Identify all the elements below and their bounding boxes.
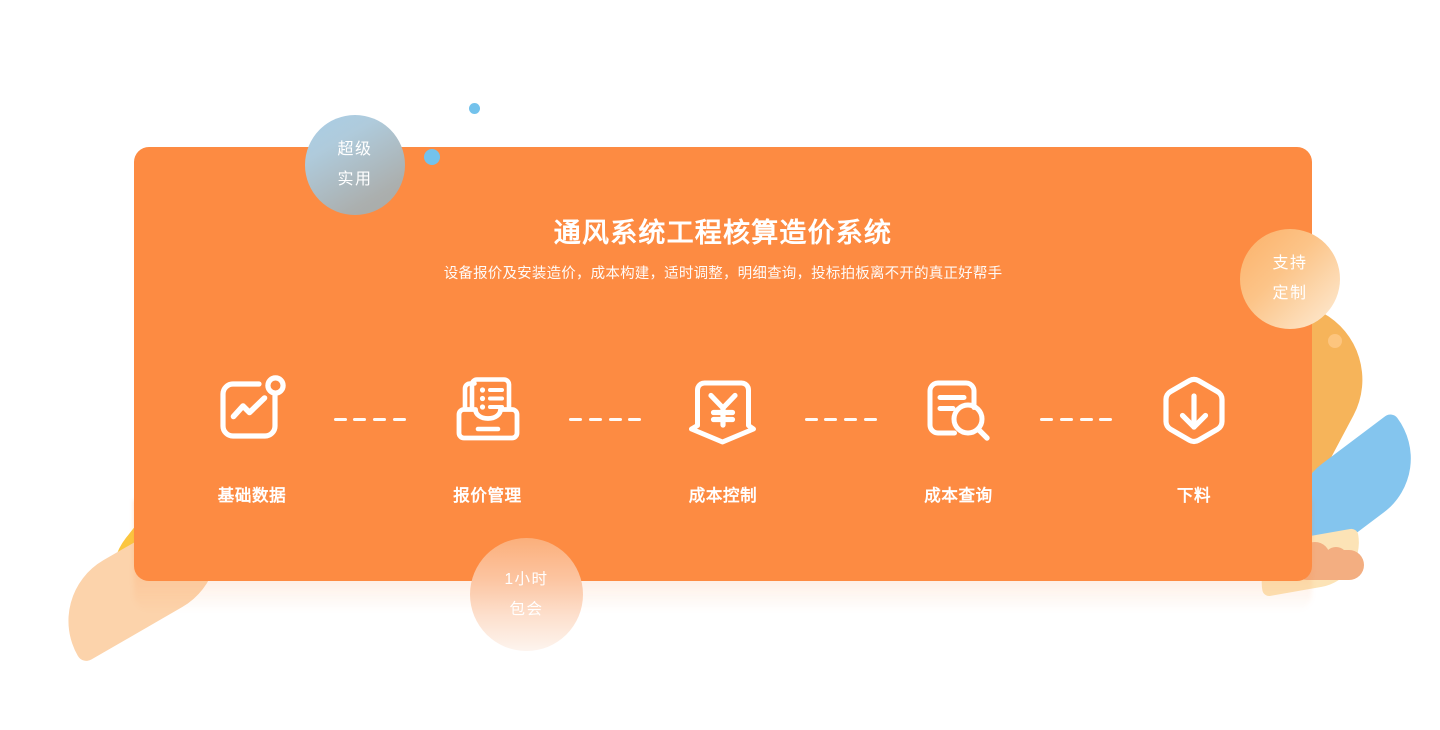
feature-row: 基础数据 (186, 369, 1260, 529)
page-title: 通风系统工程核算造价系统 (134, 211, 1312, 250)
feature-label: 成本控制 (689, 482, 757, 506)
cloud-bump-b-icon (1324, 547, 1348, 571)
blue-dot-small-icon (469, 103, 480, 114)
badge-line-2: 实用 (337, 165, 372, 195)
feature-label: 基础数据 (218, 482, 286, 506)
hero-card: 通风系统工程核算造价系统 设备报价及安装造价，成本构建，适时调整，明细查询，投标… (134, 147, 1312, 581)
connector-dashes (569, 418, 641, 421)
feature-item-cutting[interactable]: 下料 (1128, 369, 1260, 506)
connector-dashes (805, 418, 877, 421)
badge-line-1: 1小时 (504, 565, 548, 595)
badge-line-1: 支持 (1272, 249, 1307, 279)
chart-card-icon (209, 369, 295, 455)
page-root: 通风系统工程核算造价系统 设备报价及安装造价，成本构建，适时调整，明细查询，投标… (0, 0, 1440, 730)
orange-dot-icon (1328, 334, 1342, 348)
feature-item-quotation[interactable]: 报价管理 (422, 369, 554, 506)
badge-one-hour-mastery: 1小时 包会 (470, 538, 583, 651)
document-tray-icon (445, 369, 531, 455)
feature-label: 报价管理 (453, 482, 521, 506)
badge-line-2: 包会 (509, 595, 543, 625)
document-search-icon (916, 369, 1002, 455)
page-subtitle: 设备报价及安装造价，成本构建，适时调整，明细查询，投标拍板离不开的真正好帮手 (423, 262, 1023, 286)
connector-dashes (334, 418, 406, 421)
hexagon-download-icon (1151, 369, 1237, 455)
feature-label: 成本查询 (924, 482, 992, 506)
blue-dot-large-icon (424, 149, 440, 165)
badge-line-1: 超级 (337, 135, 372, 165)
badge-super-practical: 超级 实用 (305, 115, 405, 215)
badge-line-2: 定制 (1272, 279, 1307, 309)
badge-support-customization: 支持 定制 (1240, 229, 1340, 329)
feature-item-cost-query[interactable]: 成本查询 (893, 369, 1025, 506)
feature-label: 下料 (1177, 482, 1211, 506)
feature-item-cost-control[interactable]: 成本控制 (657, 369, 789, 506)
feature-item-base-data[interactable]: 基础数据 (186, 369, 318, 506)
connector-dashes (1040, 418, 1112, 421)
yuan-shield-icon (680, 369, 766, 455)
